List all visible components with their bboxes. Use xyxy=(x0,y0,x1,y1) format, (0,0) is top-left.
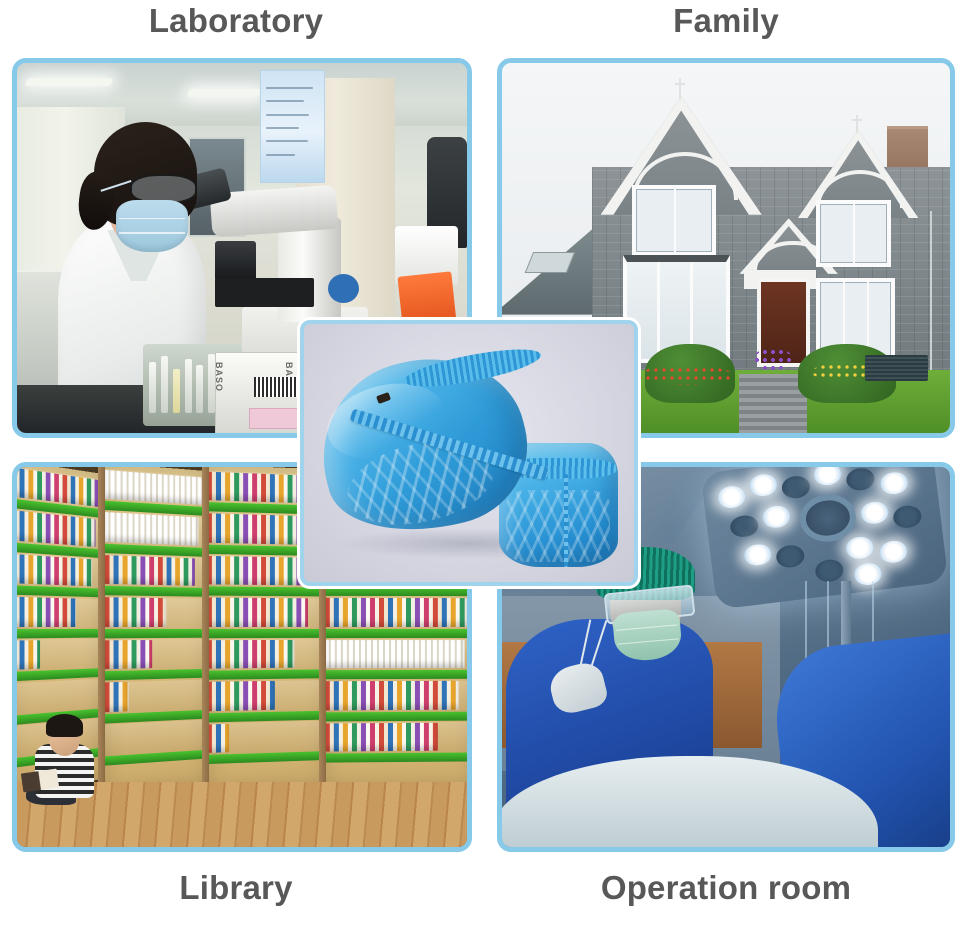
garden-flowerbed-left xyxy=(636,366,735,385)
microscope-objective xyxy=(215,241,256,282)
library-shelf-unit xyxy=(103,463,207,791)
house-finial-main xyxy=(679,78,681,100)
shoe-cover-back-seam xyxy=(564,474,568,567)
garden-flower-pot xyxy=(753,348,793,370)
collage-stage: Laboratory Family Library Operation room xyxy=(0,0,967,925)
product-inset-shoe-covers xyxy=(300,320,638,586)
garden-bench xyxy=(865,355,928,381)
lab-wall-notice-board xyxy=(260,70,325,183)
house-skylight xyxy=(525,252,576,273)
microscope-stage xyxy=(215,278,314,308)
caption-family: Family xyxy=(497,2,955,40)
house-garden-steps xyxy=(739,374,806,433)
library-shelf-post xyxy=(98,467,105,786)
library-shelf-post xyxy=(202,467,209,786)
house-drainpipe xyxy=(930,211,932,374)
lab-technician-surgical-mask xyxy=(116,200,188,252)
caption-laboratory: Laboratory xyxy=(0,2,472,40)
house-upper-window-left xyxy=(632,185,716,256)
house-finial-right xyxy=(856,115,858,134)
library-boy-hair xyxy=(46,714,83,737)
house-upper-window-right xyxy=(816,200,891,267)
caption-library: Library xyxy=(0,869,472,907)
surgical-light-center-ring xyxy=(797,491,859,545)
caption-operation-room: Operation room xyxy=(497,869,955,907)
